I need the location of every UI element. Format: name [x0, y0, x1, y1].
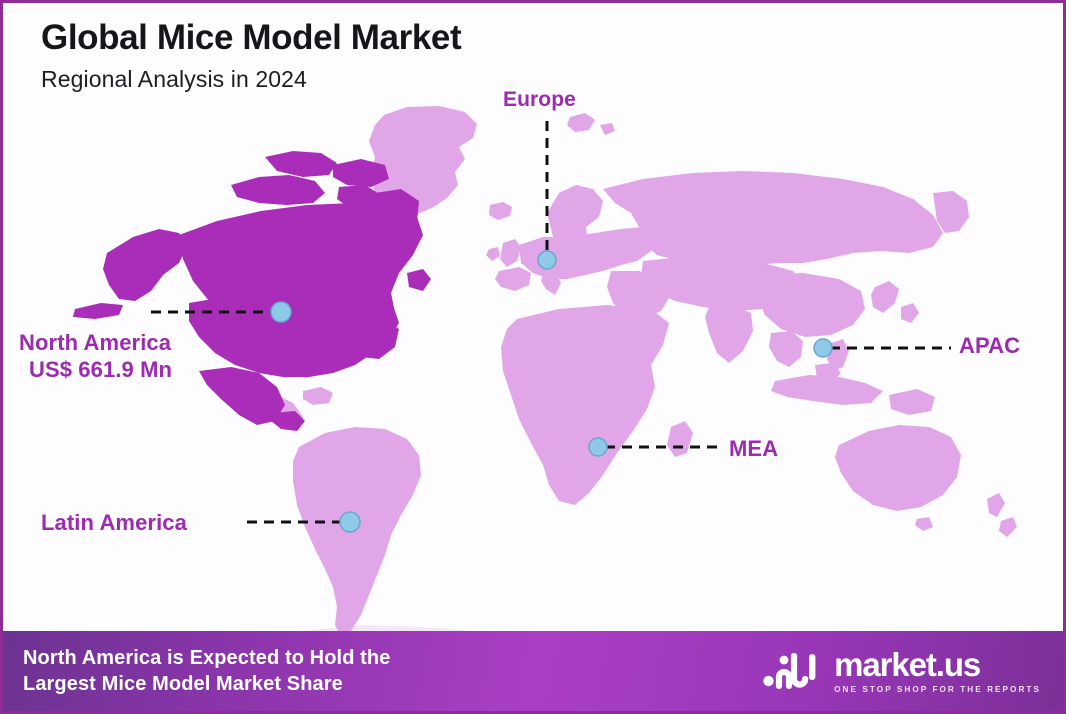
region-svalbard — [567, 113, 595, 132]
region-alaska — [103, 229, 187, 301]
region-png — [889, 389, 935, 415]
region-new-zealand-2 — [999, 517, 1017, 537]
region-label-apac: APAC — [959, 333, 1020, 360]
banner-headline-line2: Largest Mice Model Market Share — [23, 671, 390, 697]
header: Global Mice Model Market Regional Analys… — [41, 19, 461, 93]
region-ireland — [486, 247, 500, 261]
region-japan-2 — [901, 303, 919, 323]
bottom-banner: North America is Expected to Hold the La… — [3, 631, 1066, 711]
page-subtitle: Regional Analysis in 2024 — [41, 66, 461, 93]
map-highlighted-region — [73, 151, 431, 431]
region-label-north-america: North America US$ 661.9 Mn — [19, 330, 172, 384]
region-newfoundland — [407, 269, 431, 291]
banner-headline: North America is Expected to Hold the La… — [23, 645, 390, 698]
region-iberia — [495, 267, 531, 291]
region-india — [705, 305, 753, 363]
region-label-latin-america: Latin America — [41, 510, 187, 537]
region-svalbard-2 — [600, 123, 615, 135]
region-arctic-islands-2 — [265, 151, 337, 177]
region-africa — [501, 305, 669, 505]
region-japan — [871, 281, 899, 313]
region-madagascar — [667, 421, 693, 457]
region-new-zealand — [987, 493, 1005, 517]
region-label-mea: MEA — [729, 436, 778, 463]
region-indochina — [769, 331, 803, 367]
region-east-asia — [757, 273, 865, 337]
region-arctic-islands — [231, 175, 325, 205]
region-australia — [835, 425, 961, 511]
page-title: Global Mice Model Market — [41, 19, 461, 57]
banner-headline-line1: North America is Expected to Hold the — [23, 645, 390, 671]
region-usa-east — [351, 319, 399, 359]
market-us-logo-icon — [762, 648, 824, 694]
region-south-america — [293, 427, 421, 637]
infographic-container: Global Mice Model Market Regional Analys… — [0, 0, 1066, 714]
region-british-isles — [500, 239, 521, 267]
region-russia — [603, 171, 943, 267]
region-label-north-america-name: North America — [19, 330, 171, 355]
region-tasmania — [915, 517, 933, 531]
region-label-north-america-value: US$ 661.9 Mn — [29, 357, 172, 384]
market-us-logo-text: market.us ONE STOP SHOP FOR THE REPORTS — [834, 648, 1041, 694]
region-iceland — [489, 202, 512, 220]
region-aleutians — [73, 303, 123, 319]
region-label-europe: Europe — [503, 87, 576, 113]
logo-wordmark: market.us — [834, 648, 980, 681]
region-mexico — [199, 367, 285, 425]
market-us-logo: market.us ONE STOP SHOP FOR THE REPORTS — [762, 648, 1041, 694]
logo-tagline: ONE STOP SHOP FOR THE REPORTS — [834, 685, 1041, 694]
region-caribbean — [303, 387, 333, 405]
